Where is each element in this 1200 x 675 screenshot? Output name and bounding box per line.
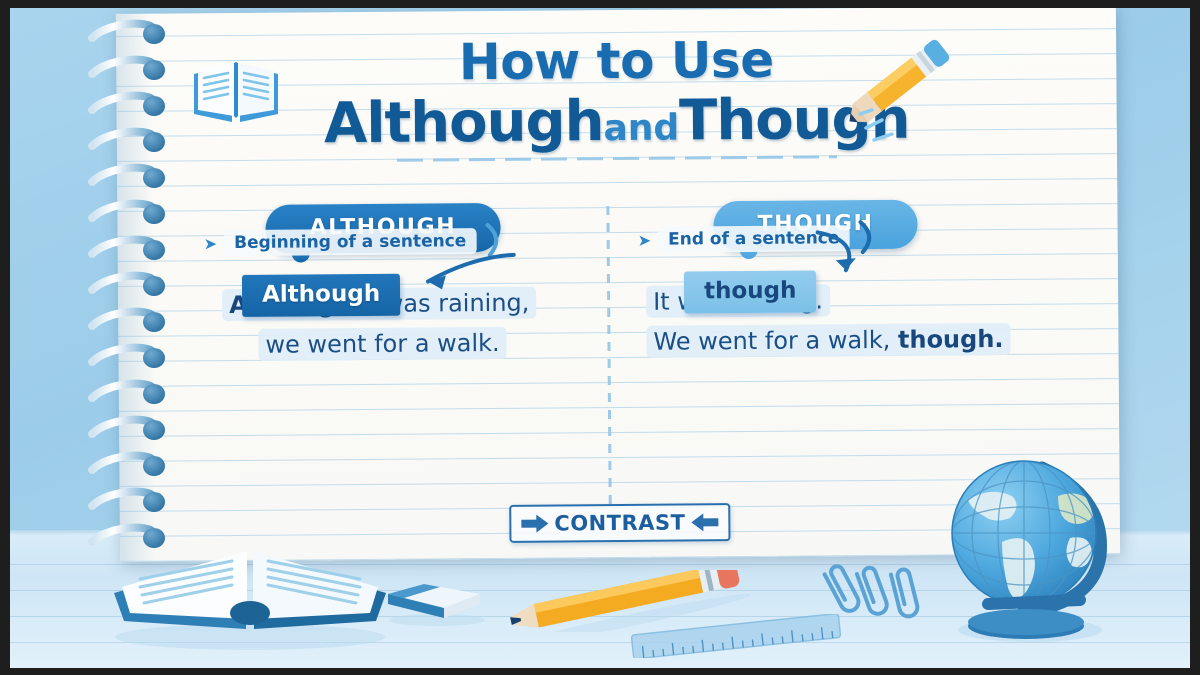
- note-left-label: Beginning of a sentence: [224, 228, 476, 256]
- arrow-left-icon: [689, 511, 719, 533]
- example-though-line-2: We went for a walk, though.: [646, 320, 1038, 363]
- chip-though[interactable]: though: [684, 270, 817, 313]
- contrast-label: CONTRAST: [554, 510, 685, 535]
- note-beginning-of-sentence: ➤ Beginning of a sentence: [204, 221, 510, 263]
- title-underline: [397, 155, 837, 161]
- contrast-box: CONTRAST: [509, 503, 730, 543]
- curve-bracket-left-icon: [483, 221, 509, 261]
- desk-plank: [10, 616, 1190, 617]
- title-word-though: Though: [679, 87, 910, 154]
- page-title: How to Use AlthoughandThough: [116, 32, 1117, 164]
- arrow-right-icon: [520, 513, 550, 535]
- bullet-arrow-icon: ➤: [638, 230, 652, 249]
- background-wall: How to Use AlthoughandThough ALTHOUGH Al…: [10, 8, 1190, 668]
- note-right-label: End of a sentence: [658, 225, 850, 253]
- title-connector: and: [603, 108, 679, 150]
- title-word-although: Although: [324, 89, 604, 156]
- chip-although[interactable]: Although: [242, 274, 400, 317]
- paper-content: How to Use AlthoughandThough ALTHOUGH Al…: [116, 8, 1120, 562]
- spiral-binding: [80, 18, 190, 558]
- example-though-rest: We went for a walk,: [653, 326, 898, 356]
- desk-plank: [10, 564, 1190, 565]
- note-end-of-sentence: ➤ End of a sentence: [637, 218, 882, 260]
- bullet-arrow-icon: ➤: [204, 234, 218, 253]
- column-divider: [606, 206, 611, 506]
- infographic-frame: How to Use AlthoughandThough ALTHOUGH Al…: [0, 0, 1200, 675]
- example-although-line-2: we went for a walk.: [222, 323, 584, 366]
- desk-plank: [10, 642, 1190, 643]
- desk-plank: [10, 590, 1190, 591]
- title-line-2: AlthoughandThough: [117, 90, 1117, 154]
- title-line-1: How to Use: [116, 32, 1116, 90]
- keyword-though: though.: [898, 325, 1004, 354]
- curve-bracket-right-icon: [856, 218, 882, 258]
